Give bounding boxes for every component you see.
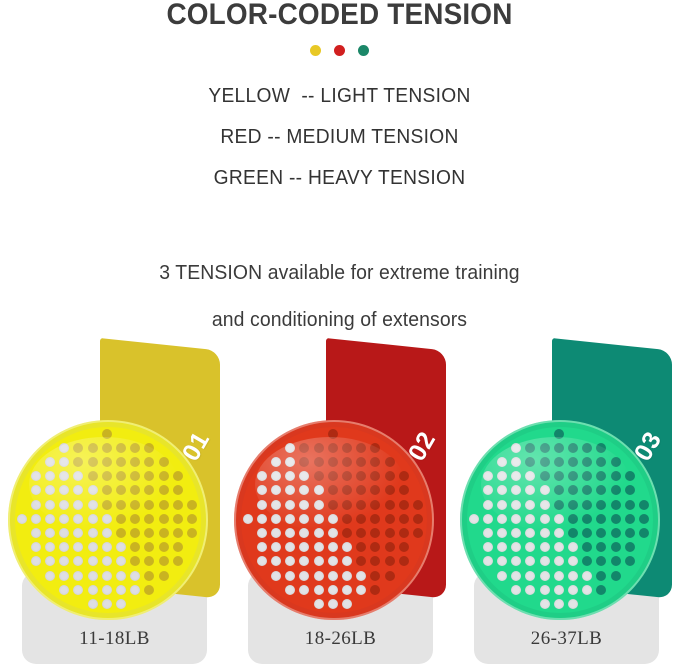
tension-legend: YELLOW -- LIGHT TENSION RED -- MEDIUM TE… bbox=[0, 76, 679, 199]
legend-line-yellow: YELLOW -- LIGHT TENSION bbox=[14, 76, 666, 117]
red-dot bbox=[334, 45, 345, 56]
product-row: 11-18LB 01 18-26LB 02 bbox=[0, 332, 679, 669]
legend-line-green: GREEN -- HEAVY TENSION bbox=[14, 158, 666, 199]
disc-face bbox=[15, 427, 201, 613]
hole-grid bbox=[467, 427, 653, 613]
grip-disc bbox=[234, 420, 434, 620]
description-line-1: 3 TENSION available for extreme training bbox=[10, 250, 669, 297]
page-title: COLOR-CODED TENSION bbox=[24, 0, 655, 32]
legend-line-red: RED -- MEDIUM TENSION bbox=[14, 117, 666, 158]
disc-face bbox=[467, 427, 653, 613]
weight-label: 18-26LB bbox=[248, 628, 433, 650]
disc-face bbox=[241, 427, 427, 613]
yellow-dot bbox=[310, 45, 321, 56]
hole-grid bbox=[241, 427, 427, 613]
hole-grid bbox=[15, 427, 201, 613]
grip-disc bbox=[8, 420, 208, 620]
product-card-01: 11-18LB 01 bbox=[0, 332, 226, 669]
product-card-02: 18-26LB 02 bbox=[226, 332, 452, 669]
infographic-canvas: COLOR-CODED TENSION YELLOW -- LIGHT TENS… bbox=[0, 0, 679, 669]
weight-label: 11-18LB bbox=[22, 628, 207, 650]
weight-label: 26-37LB bbox=[474, 628, 659, 650]
green-dot bbox=[358, 45, 369, 56]
grip-disc bbox=[460, 420, 660, 620]
description-block: 3 TENSION available for extreme training… bbox=[0, 250, 679, 344]
accent-dot-row bbox=[0, 45, 679, 56]
product-card-03: 26-37LB 03 bbox=[452, 332, 678, 669]
